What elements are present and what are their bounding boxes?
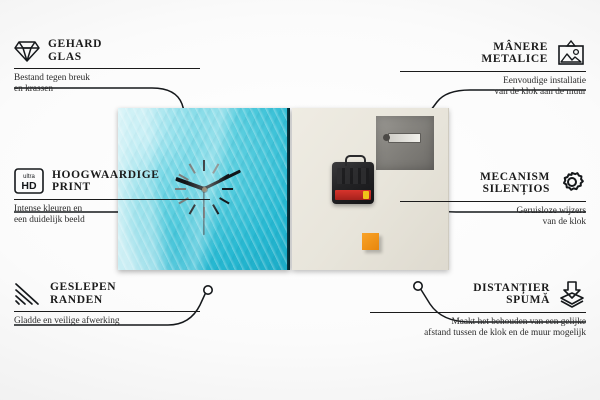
feature-desc2-manere-metalice: van de klok aan de muur	[386, 87, 586, 98]
clock-mechanism	[332, 162, 374, 204]
feature-manere-metalice: MÂNERE METALICE Eenvoudige installatie v…	[386, 40, 586, 98]
hanger-slot	[388, 133, 421, 143]
mechanism-housing-detail	[337, 168, 369, 184]
feature-title-hoogwaardige-print: HOOGWAARDIGE PRINT	[52, 169, 160, 194]
mechanism-hanging-loop	[345, 155, 366, 166]
feature-desc1-hoogwaardige-print: Intense kleuren en	[14, 204, 224, 215]
battery-label	[335, 190, 371, 200]
feature-title-geslepen-randen: GESLEPEN RANDEN	[50, 281, 116, 306]
feature-header-geslepen-randen: GESLEPEN RANDEN	[14, 281, 214, 306]
feature-title-manere-metalice: MÂNERE METALICE	[481, 41, 548, 66]
feature-title-gehard-glas: GEHARD GLAS	[48, 38, 102, 63]
feature-rule-geslepen-randen	[14, 311, 200, 312]
spacer-press-icon	[558, 281, 586, 307]
metal-hanger	[376, 116, 434, 170]
feature-desc1-distantier-spuma: Maakt het behouden van een gelijke	[356, 317, 586, 328]
feature-header-manere-metalice: MÂNERE METALICE	[386, 40, 586, 66]
infographic-canvas: GEHARD GLAS Bestand tegen breuk en krass…	[0, 0, 600, 400]
feature-title-mecanism-silentios: MECANISM SILENȚIOS	[480, 171, 550, 196]
foam-spacer	[362, 233, 379, 250]
feature-hoogwaardige-print: ultra HD HOOGWAARDIGE PRINT Intense kleu…	[14, 168, 224, 226]
ultra-hd-icon: ultra HD	[14, 168, 44, 194]
diamond-icon	[14, 39, 40, 63]
feature-desc2-gehard-glas: en krassen	[14, 84, 214, 95]
glass-beveled-edge	[287, 108, 290, 270]
svg-text:HD: HD	[21, 180, 37, 192]
feature-title-distantier-spuma: DISTANȚIER SPUMĂ	[473, 282, 550, 307]
feature-desc2-hoogwaardige-print: een duidelijk beeld	[14, 215, 224, 226]
feature-desc1-geslepen-randen: Gladde en veilige afwerking	[14, 316, 214, 327]
feature-gehard-glas: GEHARD GLAS Bestand tegen breuk en krass…	[14, 38, 214, 95]
gear-icon	[558, 170, 586, 196]
beveled-edge-icon	[14, 282, 42, 306]
feature-rule-distantier-spuma	[370, 312, 586, 313]
feature-geslepen-randen: GESLEPEN RANDEN Gladde en veilige afwerk…	[14, 281, 214, 327]
framed-picture-icon	[556, 40, 586, 66]
feature-desc1-mecanism-silentios: Geruisloze wijzers	[386, 206, 586, 217]
feature-distantier-spuma: DISTANȚIER SPUMĂ Maakt het behouden van …	[356, 281, 586, 339]
feature-desc1-manere-metalice: Eenvoudige installatie	[386, 76, 586, 87]
feature-rule-mecanism-silentios	[400, 201, 586, 202]
feature-desc1-gehard-glas: Bestand tegen breuk	[14, 73, 214, 84]
feature-mecanism-silentios: MECANISM SILENȚIOS Geruisloze wijzers va…	[386, 170, 586, 228]
feature-rule-hoogwaardige-print	[14, 199, 210, 200]
feature-desc2-mecanism-silentios: van de klok	[386, 217, 586, 228]
feature-header-hoogwaardige-print: ultra HD HOOGWAARDIGE PRINT	[14, 168, 224, 194]
feature-rule-manere-metalice	[400, 71, 586, 72]
feature-rule-gehard-glas	[14, 68, 200, 69]
feature-header-mecanism-silentios: MECANISM SILENȚIOS	[386, 170, 586, 196]
feature-header-distantier-spuma: DISTANȚIER SPUMĂ	[356, 281, 586, 307]
hanger-hole	[383, 134, 390, 141]
feature-desc2-distantier-spuma: afstand tussen de klok en de muur mogeli…	[356, 328, 586, 339]
feature-header-gehard-glas: GEHARD GLAS	[14, 38, 214, 63]
